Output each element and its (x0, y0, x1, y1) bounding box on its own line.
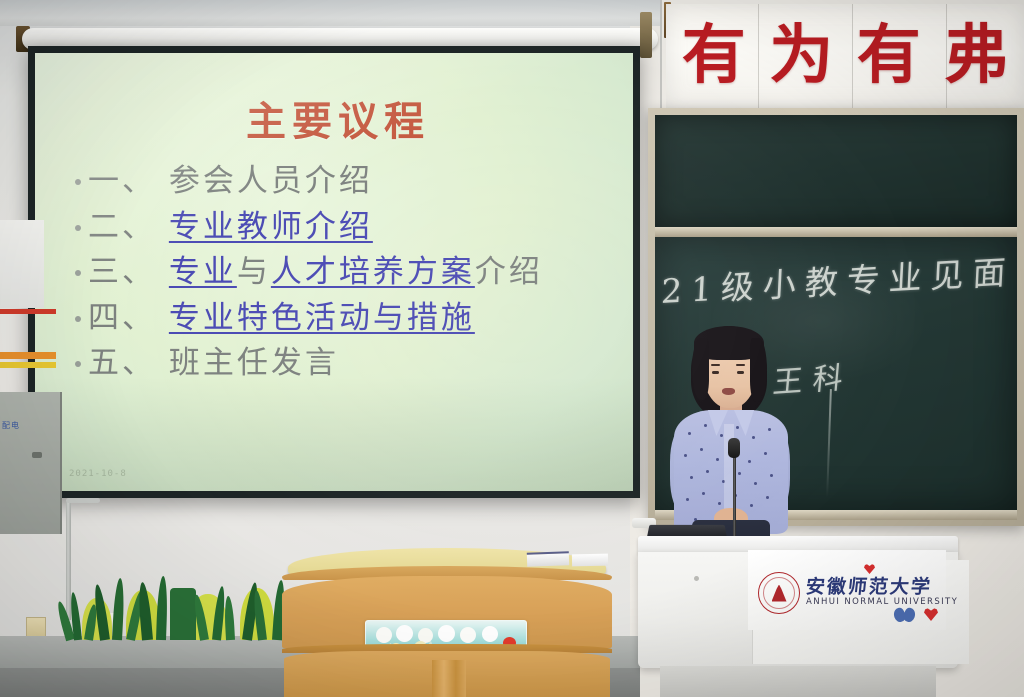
eye-right (737, 371, 744, 374)
wooden-lectern-desk (282, 548, 612, 697)
banner-char-2: 为 (769, 24, 833, 88)
bullet-dot-icon (75, 179, 81, 185)
bullet-line-4: 四、 专业特色活动与措施 (88, 300, 475, 337)
eye-left (712, 371, 719, 374)
bullet-dot-icon (75, 316, 81, 322)
presentation-slide: 主要议程 一、 参会人员介绍 二、 专业教师介绍 三、 专业与人才培养方案介绍 (35, 53, 633, 491)
wall-paper-sheet (0, 220, 44, 308)
electrical-cabinet[interactable]: 配电 (0, 392, 62, 534)
heart-sticker-icon (924, 608, 938, 621)
chalk-text-title: 21级小教专业见面 (660, 245, 1017, 313)
screen-mount-bracket (640, 12, 652, 58)
hair-side-right (750, 338, 767, 402)
banner-char-3: 有 (857, 24, 921, 88)
list-item: 三、 专业与人才培养方案介绍 (75, 254, 615, 291)
bullet-line-1: 一、 参会人员介绍 (88, 163, 373, 200)
podium-screw (694, 576, 699, 581)
banner-char-4: 弗 (944, 24, 1008, 88)
wall-conduit-bend (66, 498, 100, 503)
list-item: 二、 专业教师介绍 (75, 209, 615, 246)
bullet-dot-icon (75, 270, 81, 276)
bullet-line-2: 二、 专业教师介绍 (88, 209, 373, 246)
slide-watermark: 2021-10-8 (69, 469, 127, 479)
brow-right (736, 364, 745, 366)
mouth (722, 388, 735, 395)
brow-left (711, 364, 720, 366)
university-name-cn: 安徽师范大学 (805, 572, 934, 599)
projection-screen-frame: 主要议程 一、 参会人员介绍 二、 专业教师介绍 三、 专业与人才培养方案介绍 (28, 46, 640, 498)
butterfly-sticker-icon (894, 608, 916, 624)
ceiling-band (0, 0, 660, 26)
desk-papers (527, 551, 569, 566)
bullet-line-5: 五、 班主任发言 (88, 345, 339, 382)
university-logo-plaque: 安徽师范大学 ANHUI NORMAL UNIVERSITY (748, 550, 946, 630)
banner-char-1: 有 (682, 24, 746, 88)
slide-title: 主要议程 (61, 89, 615, 147)
multimedia-podium: 安徽师范大学 ANHUI NORMAL UNIVERSITY (624, 536, 992, 697)
chalk-stroke (826, 389, 832, 497)
desk-center-pillar (432, 660, 466, 697)
slide-bullet-list: 一、 参会人员介绍 二、 专业教师介绍 三、 专业与人才培养方案介绍 四、 专业… (61, 163, 615, 382)
wall-stripe-red (0, 309, 56, 314)
projection-screen: 主要议程 一、 参会人员介绍 二、 专业教师介绍 三、 专业与人才培养方案介绍 (35, 53, 633, 491)
university-name-en: ANHUI NORMAL UNIVERSITY (806, 597, 958, 607)
list-item: 一、 参会人员介绍 (75, 163, 615, 200)
wall-stripe-yellow (0, 362, 56, 368)
desk-papers-secondary (572, 554, 608, 567)
bullet-dot-icon (75, 225, 81, 231)
wall-banner: 有 为 有 弗 (666, 4, 1024, 108)
list-item: 四、 专业特色活动与措施 (75, 300, 615, 337)
power-outlet[interactable] (26, 617, 46, 637)
seal-mark-icon (772, 585, 787, 602)
cabinet-label: 配电 (2, 420, 20, 431)
university-seal-icon (758, 572, 800, 614)
banner-characters: 有 为 有 弗 (666, 4, 1024, 108)
blackboard-upper-panel (655, 115, 1017, 227)
cabinet-latch[interactable] (32, 452, 42, 458)
hair-side-left (692, 338, 709, 400)
microphone-head (728, 438, 740, 458)
list-item: 五、 班主任发言 (75, 345, 615, 382)
wall-stripe-orange (0, 352, 56, 359)
podium-lower-cabinet (660, 666, 936, 697)
bullet-line-3: 三、 专业与人才培养方案介绍 (88, 254, 543, 291)
bullet-dot-icon (75, 361, 81, 367)
classroom-photo-scene: 有 为 有 弗 主要议程 一、 参会人员介绍 二、 专业教师介绍 (0, 0, 1024, 697)
desk-front-panel (282, 576, 612, 648)
blackboard-rail-top (655, 227, 1017, 237)
